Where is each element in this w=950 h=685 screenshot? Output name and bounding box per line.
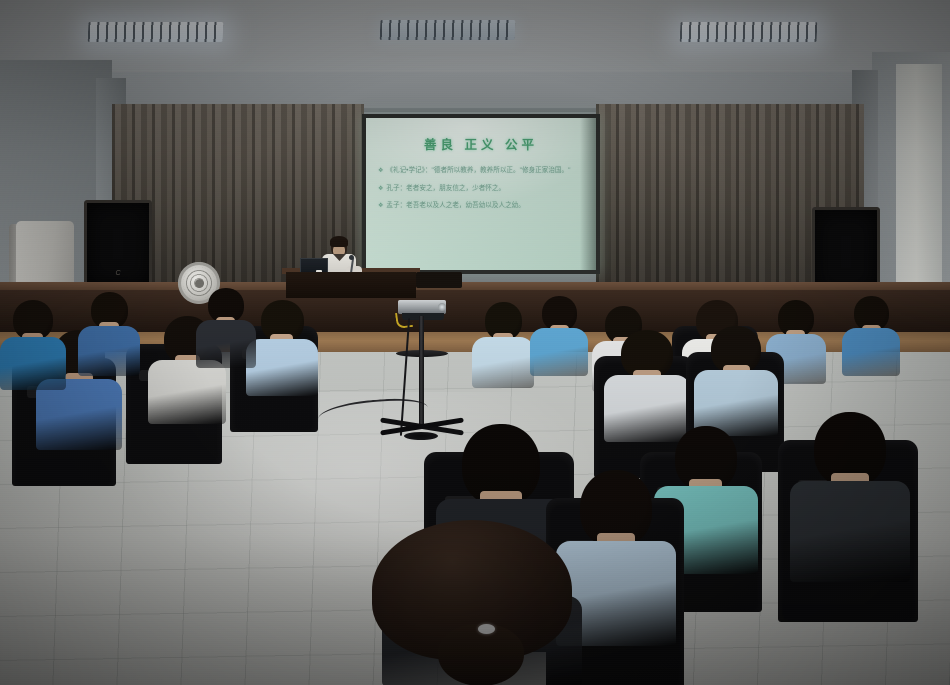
hair-tie <box>478 624 495 634</box>
ceiling-light-left <box>88 22 224 42</box>
projection-screen-frame: 善良 正义 公平 ❖ 《礼记•学记》："德者所以教养，教养所以正。"修身正家治国… <box>362 114 600 274</box>
slide-body: ❖ 《礼记•学记》："德者所以教养，教养所以正。"修身正家治国。" ❖ 孔子：老… <box>378 166 584 211</box>
slide-bullet-text: 孔子：老者安之，朋友信之，少者怀之。 <box>386 184 505 194</box>
audience-member <box>472 302 534 388</box>
wall-speaker-left: C <box>84 200 152 288</box>
audience-torso <box>78 326 140 376</box>
lecture-hall-photo: 善良 正义 公平 ❖ 《礼记•学记》："德者所以教养，教养所以正。"修身正家治国… <box>0 0 950 685</box>
speaker-brand-label: C <box>115 270 120 277</box>
audience-torso <box>842 328 900 376</box>
slide-bullet-text: 孟子：老吾老以及人之老，幼吾幼以及人之幼。 <box>386 201 524 211</box>
fan-hub <box>195 279 204 288</box>
audience-member <box>530 296 588 376</box>
foreground-person <box>372 520 602 685</box>
projector-lens-icon <box>438 303 446 311</box>
audience-member <box>694 326 778 436</box>
presentation-slide: 善良 正义 公平 ❖ 《礼记•学记》："德者所以教养，教养所以正。"修身正家治国… <box>366 118 596 270</box>
bullet-marker-icon: ❖ <box>378 166 383 176</box>
audience-member <box>196 288 256 368</box>
audience-torso <box>246 339 318 396</box>
slide-bullet-1: ❖ 《礼记•学记》："德者所以教养，教养所以正。"修身正家治国。" <box>378 166 584 176</box>
audience-torso <box>530 328 588 376</box>
bullet-marker-icon: ❖ <box>378 201 383 211</box>
projection-screen: 善良 正义 公平 ❖ 《礼记•学记》："德者所以教养，教养所以正。"修身正家治国… <box>366 118 596 270</box>
audience-member <box>246 300 318 396</box>
presenter-hair <box>330 236 348 247</box>
slide-bullet-text: 《礼记•学记》："德者所以教养，教养所以正。"修身正家治国。" <box>386 166 570 176</box>
audience-torso <box>148 360 226 424</box>
audience-member <box>0 300 66 390</box>
slide-title: 善良 正义 公平 <box>378 134 584 153</box>
projector-stand-foot <box>404 432 438 440</box>
ceiling-light-mid <box>380 20 516 40</box>
audience-torso <box>0 337 66 390</box>
audience-torso <box>196 320 256 368</box>
bullet-marker-icon: ❖ <box>378 184 383 194</box>
slide-bullet-3: ❖ 孟子：老吾老以及人之老，幼吾幼以及人之幼。 <box>378 201 584 211</box>
ceiling-light-right <box>680 22 818 42</box>
screen-shadow-edge <box>580 118 596 270</box>
podium-table <box>286 272 416 298</box>
stage-monitor <box>416 272 462 288</box>
audience-member <box>78 292 140 376</box>
audience-torso <box>790 481 910 582</box>
slide-bullet-2: ❖ 孔子：老者安之，朋友信之，少者怀之。 <box>378 184 584 194</box>
audience-torso <box>472 337 534 388</box>
microphone-head-icon <box>349 255 354 260</box>
audience-member <box>790 412 910 582</box>
audience-member <box>842 296 900 376</box>
